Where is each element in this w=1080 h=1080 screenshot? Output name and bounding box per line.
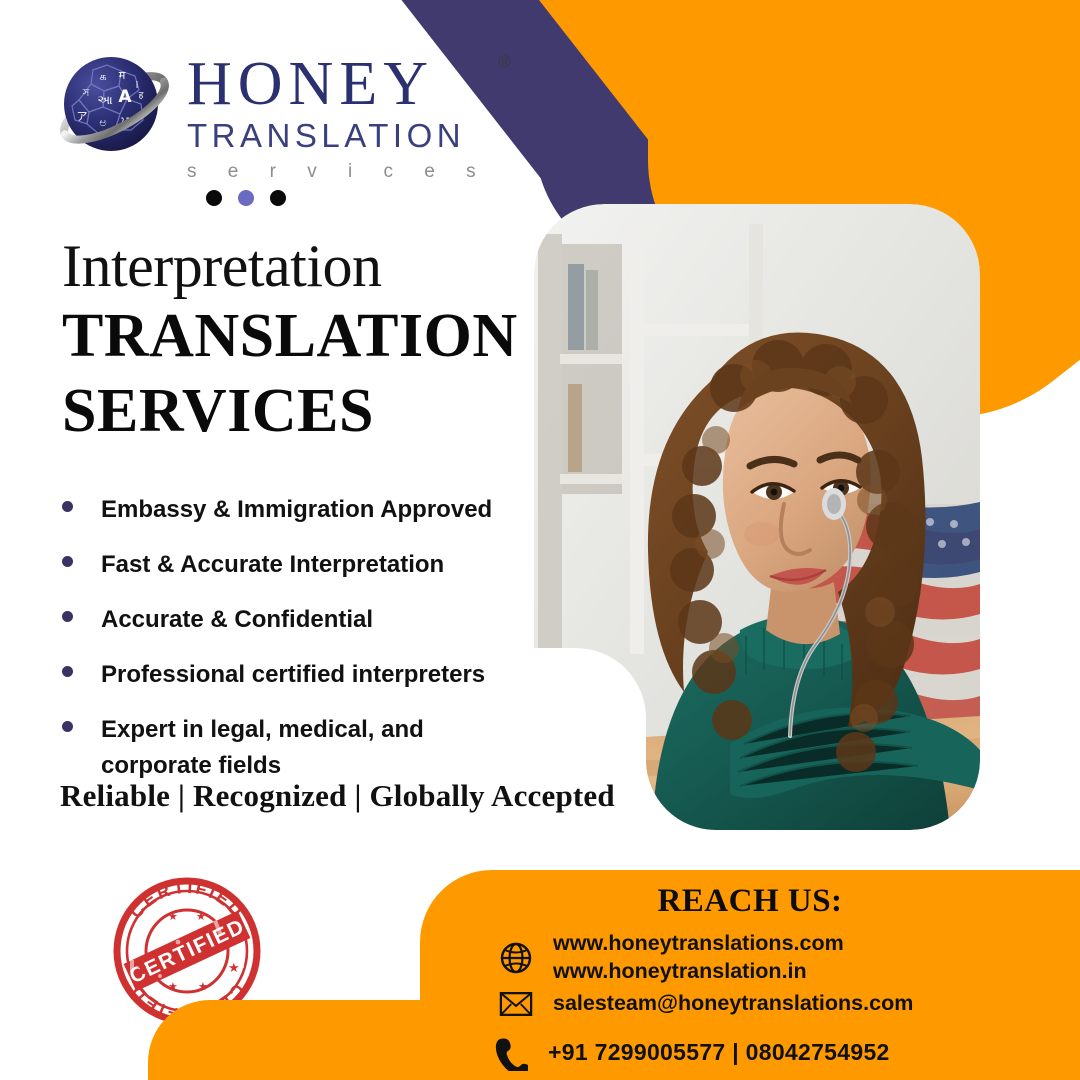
dot-2	[238, 190, 254, 206]
bullet-icon	[62, 556, 73, 567]
contact-heading: REACH US:	[420, 883, 1080, 920]
svg-text:ا: ا	[136, 81, 139, 91]
svg-text:★: ★	[168, 911, 178, 923]
list-item: Fast & Accurate Interpretation	[52, 547, 552, 583]
globe-languages-icon: க म ا স આ A ह ア ಅ ਪ	[55, 48, 173, 166]
svg-text:ह: ह	[139, 91, 144, 101]
svg-text:ಅ: ಅ	[99, 116, 106, 129]
feature-list: Embassy & Immigration Approved Fast & Ac…	[52, 492, 552, 803]
svg-text:স: স	[82, 88, 90, 99]
website-1: www.honeytranslations.com	[553, 931, 844, 955]
contact-row-website[interactable]: www.honeytranslations.com www.honeytrans…	[495, 930, 844, 985]
email-address: salesteam@honeytranslations.com	[553, 990, 913, 1018]
bullet-icon	[62, 721, 73, 732]
dot-3	[270, 190, 286, 206]
logo-brand-name: HONEY	[187, 56, 489, 113]
svg-text:ア: ア	[77, 110, 88, 123]
phone-icon	[490, 1035, 532, 1071]
poster-canvas: க म ا স આ A ह ア ಅ ਪ HONEY ®	[0, 0, 1080, 1080]
svg-text:★: ★	[136, 960, 148, 975]
svg-text:म: म	[119, 69, 126, 82]
list-item: Professional certified interpreters	[52, 657, 552, 693]
svg-text:★: ★	[198, 981, 208, 993]
svg-text:★: ★	[168, 981, 178, 993]
globe-icon	[495, 941, 537, 975]
website-2: www.honeytranslation.in	[553, 959, 807, 983]
headline-bold-line-1: TRANSLATION	[62, 302, 542, 371]
brand-logo: க म ا স આ A ह ア ಅ ਪ HONEY ®	[55, 48, 489, 183]
svg-text:க: க	[99, 70, 106, 83]
bullet-icon	[62, 666, 73, 677]
svg-text:A: A	[118, 87, 132, 107]
dot-1	[206, 190, 222, 206]
contact-content: REACH US: www.honeytranslations.com www.…	[420, 870, 1080, 1080]
interpreter-photo	[534, 204, 980, 830]
website-list: www.honeytranslations.com www.honeytrans…	[553, 930, 844, 985]
contact-row-email[interactable]: salesteam@honeytranslations.com	[495, 990, 913, 1018]
value-tagline: Reliable | Recognized | Globally Accepte…	[60, 778, 615, 814]
contact-row-phone[interactable]: +91 7299005577 | 08042754952	[490, 1035, 890, 1071]
feature-text: Professional certified interpreters	[101, 657, 485, 693]
registered-trademark-icon: ®	[498, 52, 511, 72]
logo-tagline: s e r v i c e s	[187, 161, 489, 183]
logo-dots	[206, 190, 286, 206]
bullet-icon	[62, 611, 73, 622]
headline-script-line: Interpretation	[62, 236, 542, 296]
list-item: Expert in legal, medical, and corporate …	[52, 712, 552, 784]
svg-text:CERTIFIED: CERTIFIED	[126, 915, 248, 988]
logo-subtitle: TRANSLATION	[187, 117, 489, 155]
headline-bold-line-2: SERVICES	[62, 377, 542, 446]
bullet-icon	[62, 501, 73, 512]
feature-text: Expert in legal, medical, and corporate …	[101, 712, 451, 784]
feature-text: Accurate & Confidential	[101, 602, 373, 638]
envelope-icon	[495, 990, 537, 1018]
list-item: Embassy & Immigration Approved	[52, 492, 552, 528]
feature-text: Fast & Accurate Interpretation	[101, 547, 444, 583]
phone-numbers: +91 7299005577 | 08042754952	[548, 1038, 890, 1067]
svg-text:★: ★	[228, 960, 240, 975]
list-item: Accurate & Confidential	[52, 602, 552, 638]
svg-text:★: ★	[196, 911, 206, 923]
feature-text: Embassy & Immigration Approved	[101, 492, 492, 528]
headline-block: Interpretation TRANSLATION SERVICES	[62, 236, 542, 447]
svg-text:આ: આ	[97, 93, 112, 107]
